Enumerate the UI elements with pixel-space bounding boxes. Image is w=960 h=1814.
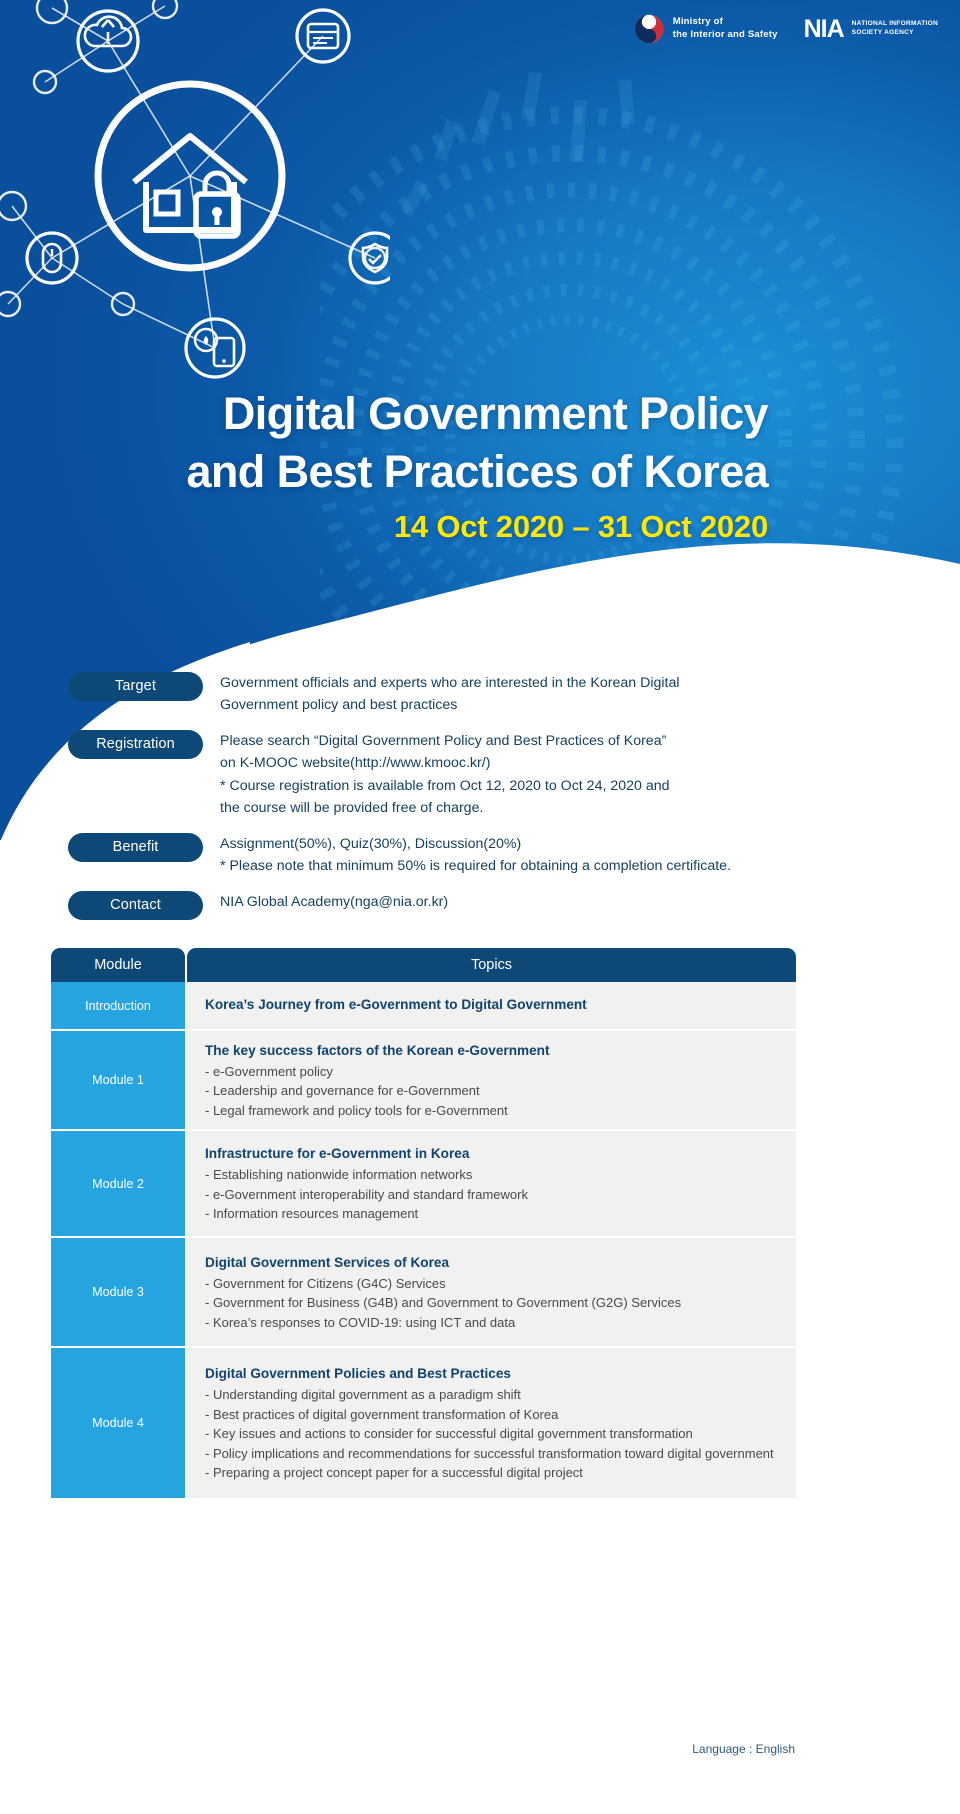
language-note: Language : English [692, 1742, 795, 1756]
topic-title: The key success factors of the Korean e-… [205, 1040, 796, 1062]
table-header-module: Module [51, 948, 185, 982]
info-label-contact: Contact [68, 891, 203, 920]
table-header-row: Module Topics [51, 948, 796, 982]
cloud-upload-icon [78, 11, 138, 71]
table-cell-topics: The key success factors of the Korean e-… [187, 1031, 796, 1129]
mobile-leaf-icon [186, 319, 244, 377]
info-value-contact: NIA Global Academy(nga@nia.or.kr) [220, 891, 448, 913]
topic-item: - Government for Business (G4B) and Gove… [205, 1293, 796, 1313]
topic-title: Korea’s Journey from e-Government to Dig… [205, 994, 796, 1016]
info-label-benefit: Benefit [68, 833, 203, 862]
topic-item: - Government for Citizens (G4C) Services [205, 1274, 796, 1294]
ministry-line-1: Ministry of [673, 16, 778, 29]
ministry-logo-text: Ministry of the Interior and Safety [673, 16, 778, 41]
info-value-target: Government officials and experts who are… [220, 672, 680, 716]
table-row: Introduction Korea’s Journey from e-Gove… [51, 982, 796, 1031]
info-label-registration: Registration [68, 730, 203, 759]
info-value-benefit: Assignment(50%), Quiz(30%), Discussion(2… [220, 833, 731, 877]
table-cell-module: Module 1 [51, 1031, 185, 1129]
info-line: on K-MOOC website(http://www.kmooc.kr/) [220, 752, 670, 774]
info-line: * Course registration is available from … [220, 775, 670, 797]
table-cell-topics: Digital Government Services of Korea - G… [187, 1238, 796, 1346]
info-row-contact: Contact NIA Global Academy(nga@nia.or.kr… [0, 891, 960, 920]
table-cell-module: Module 2 [51, 1131, 185, 1236]
topic-item: - e-Government policy [205, 1062, 796, 1082]
table-cell-module: Introduction [51, 982, 185, 1029]
curriculum-table: Module Topics Introduction Korea’s Journ… [51, 948, 796, 1500]
table-row: Module 2 Infrastructure for e-Government… [51, 1131, 796, 1238]
topic-title: Digital Government Policies and Best Pra… [205, 1363, 796, 1385]
topic-item: - Best practices of digital government t… [205, 1405, 796, 1425]
nia-logo: NIA NATIONAL INFORMATION SOCIETY AGENCY [804, 17, 938, 42]
topic-item: - Legal framework and policy tools for e… [205, 1101, 796, 1121]
logo-row: Ministry of the Interior and Safety NIA … [634, 14, 938, 44]
table-header-topics: Topics [187, 948, 796, 982]
info-line: Assignment(50%), Quiz(30%), Discussion(2… [220, 833, 731, 855]
ministry-logo: Ministry of the Interior and Safety [634, 14, 778, 44]
table-cell-module: Module 4 [51, 1348, 185, 1498]
info-row-target: Target Government officials and experts … [0, 672, 960, 716]
topic-item: - Leadership and governance for e-Govern… [205, 1081, 796, 1101]
ministry-line-2: the Interior and Safety [673, 29, 778, 42]
info-row-registration: Registration Please search “Digital Gove… [0, 730, 960, 819]
table-row: Module 1 The key success factors of the … [51, 1031, 796, 1131]
info-row-benefit: Benefit Assignment(50%), Quiz(30%), Disc… [0, 833, 960, 877]
table-cell-module: Module 3 [51, 1238, 185, 1346]
course-date-range: 14 Oct 2020 – 31 Oct 2020 [68, 509, 768, 545]
nia-sub-line-2: SOCIETY AGENCY [852, 29, 914, 36]
nia-sub-line-1: NATIONAL INFORMATION [852, 20, 938, 27]
topic-item: - Information resources management [205, 1204, 796, 1224]
info-line: Please search “Digital Government Policy… [220, 730, 670, 752]
page-title: Digital Government Policy and Best Pract… [68, 385, 768, 545]
info-line: Government officials and experts who are… [220, 672, 680, 694]
table-cell-topics: Digital Government Policies and Best Pra… [187, 1348, 796, 1498]
topic-title: Infrastructure for e-Government in Korea [205, 1143, 796, 1165]
topic-item: - Korea’s responses to COVID-19: using I… [205, 1313, 796, 1333]
course-info-section: Target Government officials and experts … [0, 672, 960, 934]
table-row: Module 4 Digital Government Policies and… [51, 1348, 796, 1500]
info-line: NIA Global Academy(nga@nia.or.kr) [220, 891, 448, 913]
title-line-1: Digital Government Policy [68, 385, 768, 443]
nia-logo-subtext: NATIONAL INFORMATION SOCIETY AGENCY [852, 20, 938, 38]
topic-item: - Policy implications and recommendation… [205, 1444, 796, 1464]
nia-wordmark: NIA [804, 17, 844, 42]
info-line: Government policy and best practices [220, 694, 680, 716]
table-cell-topics: Infrastructure for e-Government in Korea… [187, 1131, 796, 1236]
topic-item: - Key issues and actions to consider for… [205, 1424, 796, 1444]
table-cell-topics: Korea’s Journey from e-Government to Dig… [187, 982, 796, 1029]
info-value-registration: Please search “Digital Government Policy… [220, 730, 670, 819]
table-row: Module 3 Digital Government Services of … [51, 1238, 796, 1348]
taegeuk-icon [634, 14, 664, 44]
topic-item: - Preparing a project concept paper for … [205, 1463, 796, 1483]
info-line: * Please note that minimum 50% is requir… [220, 855, 731, 877]
info-label-target: Target [68, 672, 203, 701]
network-icon-graph [0, 0, 390, 386]
topic-title: Digital Government Services of Korea [205, 1252, 796, 1274]
topic-item: - Understanding digital government as a … [205, 1385, 796, 1405]
topic-item: - Establishing nationwide information ne… [205, 1165, 796, 1185]
topic-item: - e-Government interoperability and stan… [205, 1185, 796, 1205]
title-line-2: and Best Practices of Korea [68, 443, 768, 501]
info-line: the course will be provided free of char… [220, 797, 670, 819]
